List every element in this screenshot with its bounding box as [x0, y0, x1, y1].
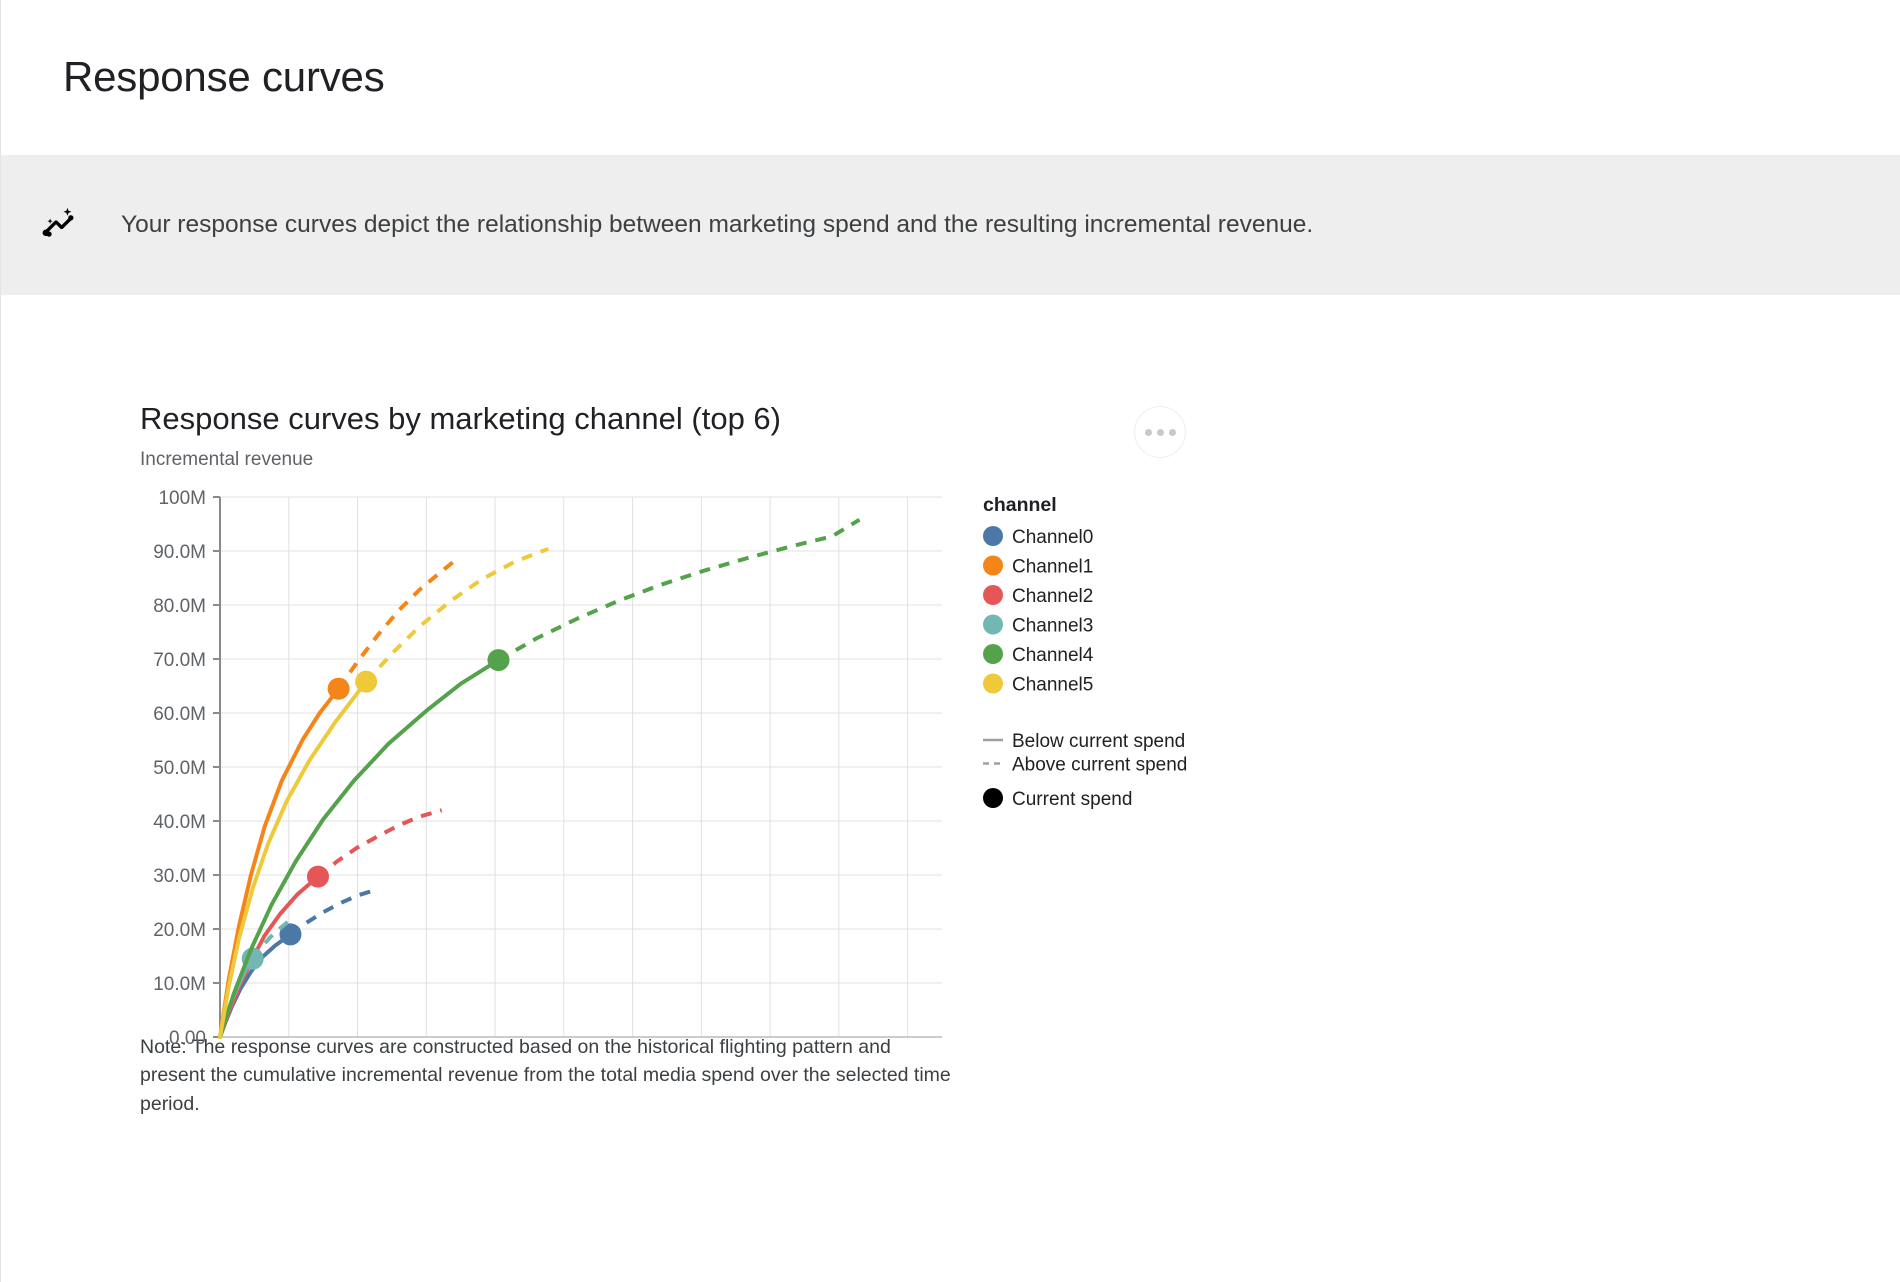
legend-swatch-channel2: [983, 585, 1003, 605]
legend-label-channel2: Channel2: [1012, 586, 1093, 607]
legend-style-solid[interactable]: Below current spend: [983, 731, 1185, 752]
insight-banner-text: Your response curves depict the relation…: [121, 208, 1313, 241]
legend-style-dashed[interactable]: Above current spend: [983, 755, 1187, 776]
chart-title: Response curves by marketing channel (to…: [140, 400, 781, 437]
current-spend-marker-channel4[interactable]: [487, 649, 509, 671]
legend-swatch-channel1: [983, 556, 1003, 576]
series-channel4[interactable]: [220, 520, 859, 1037]
current-spend-marker-channel5[interactable]: [355, 671, 377, 693]
y-axis-tick-label: 40.0M: [153, 812, 206, 833]
more-dot-3: [1169, 429, 1176, 436]
series-channel5[interactable]: [220, 549, 548, 1037]
curve-dashed-channel2: [318, 810, 442, 876]
legend-item-channel3[interactable]: Channel3: [983, 615, 1093, 637]
legend-label-solid: Below current spend: [1012, 731, 1185, 752]
current-spend-marker-channel2[interactable]: [307, 866, 329, 888]
y-axis-tick-label: 0.00: [169, 1028, 206, 1045]
curve-dashed-channel4: [498, 520, 859, 660]
y-axis-tick-label: 60.0M: [153, 704, 206, 725]
page-header: Response curves: [0, 0, 1900, 155]
y-axis-tick-label: 70.0M: [153, 650, 206, 671]
card-header: Response curves by marketing channel (to…: [138, 400, 1268, 471]
y-axis-tick-label: 90.0M: [153, 542, 206, 563]
y-axis-tick-label: 80.0M: [153, 596, 206, 617]
legend-item-channel2[interactable]: Channel2: [983, 585, 1093, 607]
y-axis-tick-label: 100M: [158, 488, 206, 509]
legend-swatch-current-spend: [983, 788, 1003, 808]
current-spend-marker-channel1[interactable]: [328, 678, 350, 700]
legend-item-channel5[interactable]: Channel5: [983, 674, 1093, 696]
more-options-button[interactable]: [1134, 406, 1186, 458]
legend-label-current-spend: Current spend: [1012, 789, 1132, 810]
legend-label-channel1: Channel1: [1012, 557, 1093, 578]
legend-title: channel: [983, 494, 1057, 516]
response-curves-card: Response curves by marketing channel (to…: [138, 400, 1268, 1118]
curve-dashed-channel1: [339, 560, 456, 689]
legend-swatch-channel3: [983, 615, 1003, 635]
more-dot-2: [1157, 429, 1164, 436]
legend-label-channel3: Channel3: [1012, 616, 1093, 637]
legend-label-channel5: Channel5: [1012, 675, 1093, 696]
legend-item-channel4[interactable]: Channel4: [983, 644, 1094, 666]
card-title-group: Response curves by marketing channel (to…: [138, 400, 781, 471]
legend-marker-current-spend[interactable]: Current spend: [983, 788, 1132, 810]
y-axis-tick-label: 20.0M: [153, 920, 206, 941]
curve-dashed-channel5: [366, 549, 548, 682]
chart-note: Note: The response curves are constructe…: [140, 1033, 960, 1118]
page-title: Response curves: [63, 54, 385, 100]
insights-sparkle-icon: [41, 204, 83, 246]
legend-swatch-channel0: [983, 526, 1003, 546]
series-channel2[interactable]: [220, 810, 442, 1037]
insight-banner: Your response curves depict the relation…: [0, 155, 1900, 295]
y-axis-tick-label: 30.0M: [153, 866, 206, 887]
chart-subtitle: Incremental revenue: [140, 449, 781, 471]
y-axis-tick-label: 10.0M: [153, 974, 206, 995]
curve-dashed-channel0: [290, 889, 378, 934]
legend-item-channel1[interactable]: Channel1: [983, 556, 1093, 578]
more-dot-1: [1145, 429, 1152, 436]
legend-item-channel0[interactable]: Channel0: [983, 526, 1093, 548]
response-curves-chart[interactable]: 0.0010.0M20.0M30.0M40.0M50.0M60.0M70.0M8…: [138, 485, 1268, 1045]
legend-label-channel0: Channel0: [1012, 527, 1093, 548]
legend-label-dashed: Above current spend: [1012, 755, 1187, 776]
legend-swatch-channel4: [983, 644, 1003, 664]
page-body: Response curves by marketing channel (to…: [0, 295, 1900, 1282]
chart-region: 0.0010.0M20.0M30.0M40.0M50.0M60.0M70.0M8…: [138, 485, 1268, 1015]
y-axis-tick-label: 50.0M: [153, 758, 206, 779]
legend-swatch-channel5: [983, 674, 1003, 694]
legend-label-channel4: Channel4: [1012, 645, 1094, 666]
